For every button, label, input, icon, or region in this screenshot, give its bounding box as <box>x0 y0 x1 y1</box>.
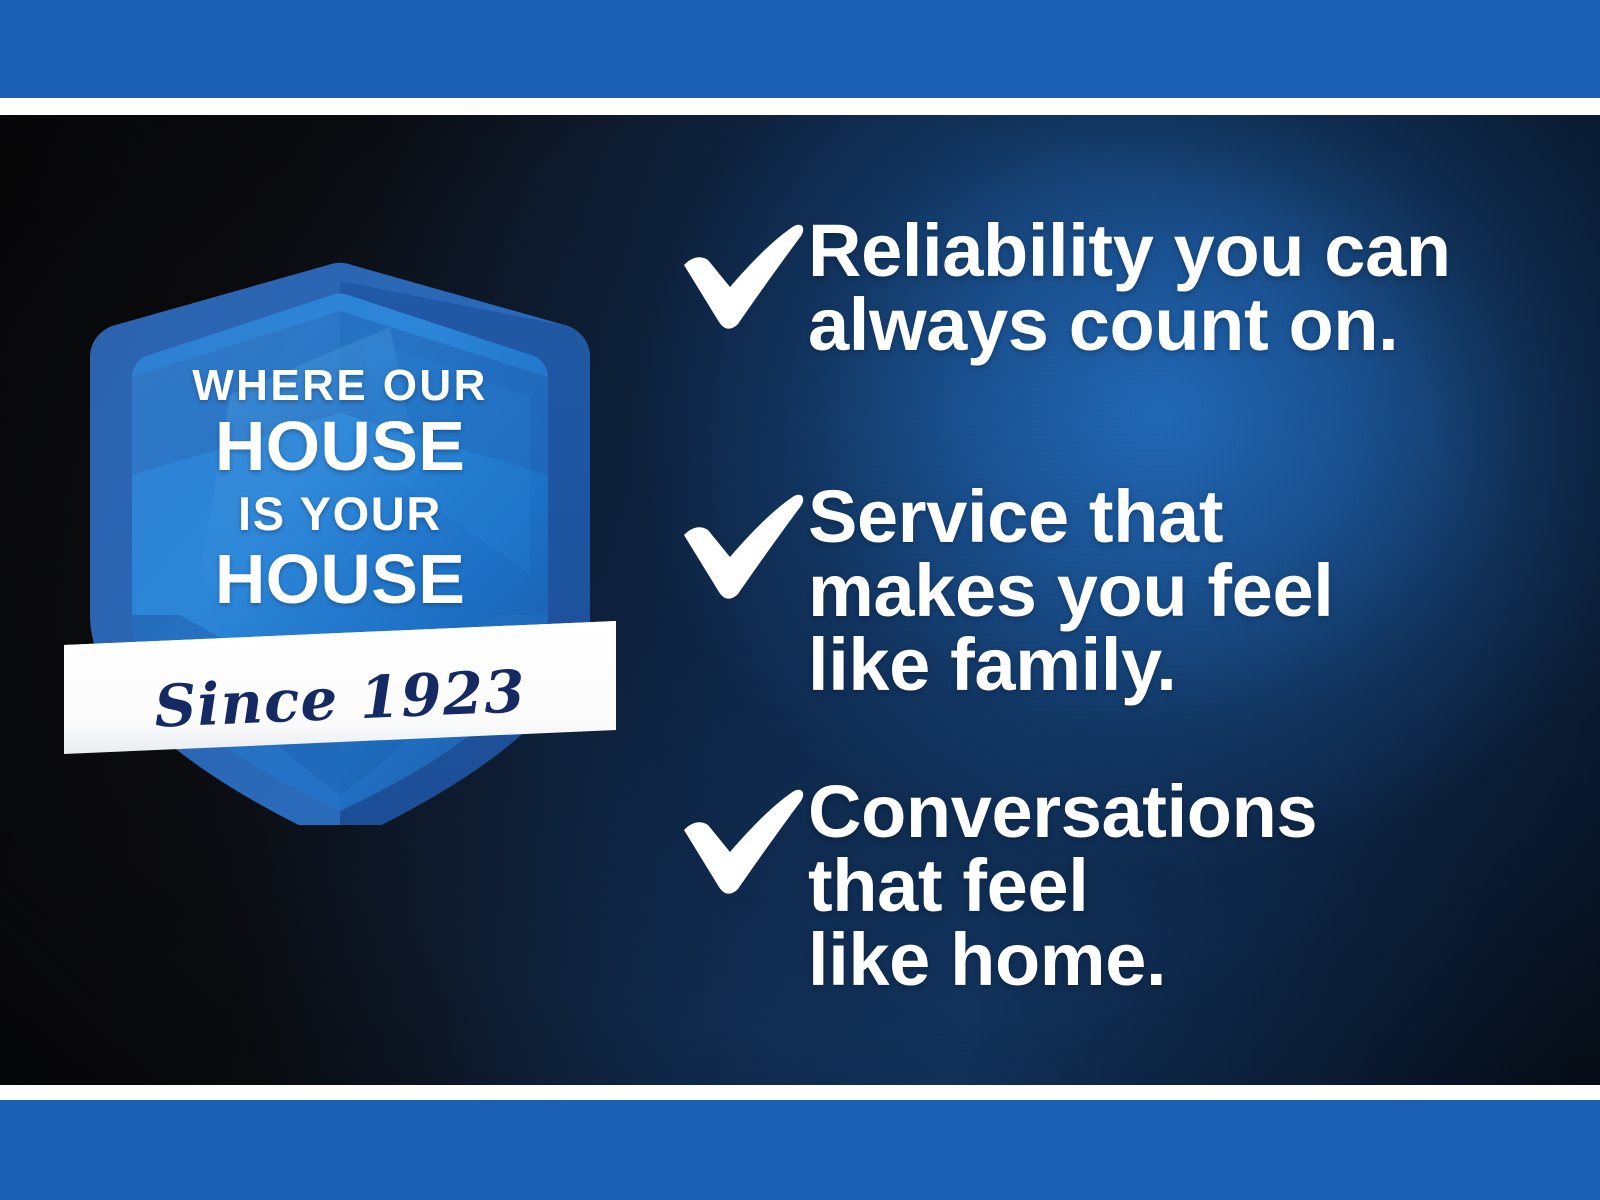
shield-icon <box>60 145 620 825</box>
list-item: Reliability you can always count on. <box>668 210 1528 362</box>
check-icon <box>668 480 808 600</box>
benefits-list: Reliability you can always count on. Ser… <box>668 115 1528 1085</box>
list-item-text: Reliability you can always count on. <box>808 210 1528 362</box>
list-item: Service that makes you feel like family. <box>668 480 1528 702</box>
list-item-text: Conversations that feel like home. <box>808 775 1528 997</box>
list-item: Conversations that feel like home. <box>668 775 1528 997</box>
top-accent-band <box>0 0 1600 98</box>
check-icon <box>668 775 808 895</box>
bottom-accent-band <box>0 1100 1600 1200</box>
shield-badge: WHERE OUR HOUSE IS YOUR HOUSE Since 1923 <box>60 145 620 825</box>
banner-canvas: WHERE OUR HOUSE IS YOUR HOUSE Since 1923… <box>0 0 1600 1200</box>
list-item-text: Service that makes you feel like family. <box>808 480 1528 702</box>
check-icon <box>668 210 808 330</box>
